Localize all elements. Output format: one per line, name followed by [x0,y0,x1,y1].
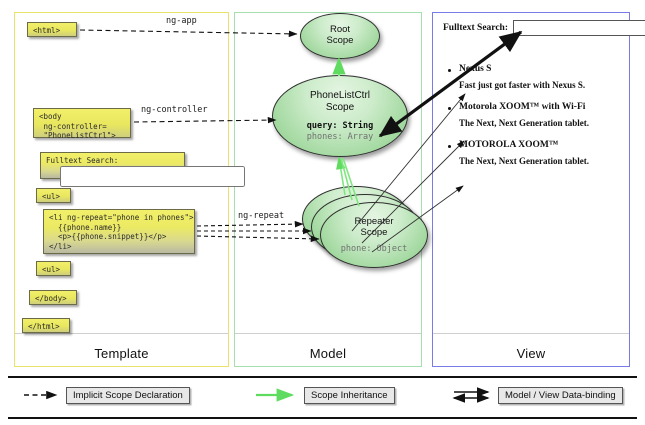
scope-phonelistctrl: PhoneListCtrl Scope query: String phones… [272,75,408,157]
panel-divider [15,333,228,334]
view-search-label: Fulltext Search: [443,23,508,33]
list-item: MOTOROLA XOOM™ The Next, Next Generation… [443,140,623,166]
view-search-row: Fulltext Search: [443,20,623,36]
code-box-body-close: </body> [29,290,77,305]
legend-double-arrow-icon [450,386,496,404]
legend-item-data-binding: Model / View Data-binding [450,386,623,404]
legend-top-rule [8,376,637,378]
phone-title: Nexus S [443,64,623,74]
scope-prop-phones: phones: Array [307,132,374,143]
edge-label-ng-app: ng-app [166,16,197,26]
phone-snippet: The Next, Next Generation tablet. [443,118,623,128]
edge-label-ng-repeat: ng-repeat [238,211,284,221]
code-box-html-open: <html> [27,22,77,37]
list-item: Motorola XOOM™ with Wi-Fi The Next, Next… [443,102,623,128]
legend-green-arrow-icon [254,386,302,404]
panel-label-template: Template [15,346,228,361]
code-box-li-repeat: <li ng-repeat="phone in phones"> {{phone… [43,209,195,254]
scope-prop-query: query: String [307,121,374,132]
legend-dashed-arrow-icon [22,386,64,404]
scope-root-title: Root Scope [327,25,354,47]
scope-repeater: Repeater Scope phone: Object [320,202,428,268]
phone-title: MOTOROLA XOOM™ [443,140,623,150]
panel-label-view: View [433,346,629,361]
code-box-ul-close: <ul> [36,261,71,276]
diagram-canvas: Template Model View <html> <body ng-cont… [0,0,645,425]
scope-phonelistctrl-title: PhoneListCtrl Scope [310,90,370,114]
legend-label-implicit-scope: Implicit Scope Declaration [66,387,190,404]
code-box-ul-open: <ul> [36,188,71,203]
panel-label-model: Model [235,346,421,361]
edge-label-ng-controller: ng-controller [141,105,208,115]
view-search-input[interactable] [513,20,645,36]
phone-title: Motorola XOOM™ with Wi-Fi [443,102,623,112]
code-box-body-open: <body ng-controller= "PhoneListCtrl"> [33,108,131,138]
legend-item-implicit-scope: Implicit Scope Declaration [22,386,190,404]
phone-snippet: Fast just got faster with Nexus S. [443,80,623,90]
phone-snippet: The Next, Next Generation tablet. [443,156,623,166]
panel-divider [235,333,421,334]
view-phone-list: Nexus S Fast just got faster with Nexus … [443,64,623,166]
scope-repeater-title: Repeater Scope [354,216,393,238]
code-box-html-close: </html> [22,318,70,333]
scope-root: Root Scope [300,13,380,59]
panel-divider [433,333,629,334]
legend-item-scope-inheritance: Scope Inheritance [254,386,395,404]
legend-label-data-binding: Model / View Data-binding [498,387,623,404]
scope-prop-phone: phone: Object [341,244,408,254]
code-box-search: Fulltext Search: [40,152,185,179]
legend-bottom-rule [8,417,637,419]
list-item: Nexus S Fast just got faster with Nexus … [443,64,623,90]
view-content: Fulltext Search: Nexus S Fast just got f… [443,20,623,178]
legend-label-scope-inheritance: Scope Inheritance [304,387,395,404]
